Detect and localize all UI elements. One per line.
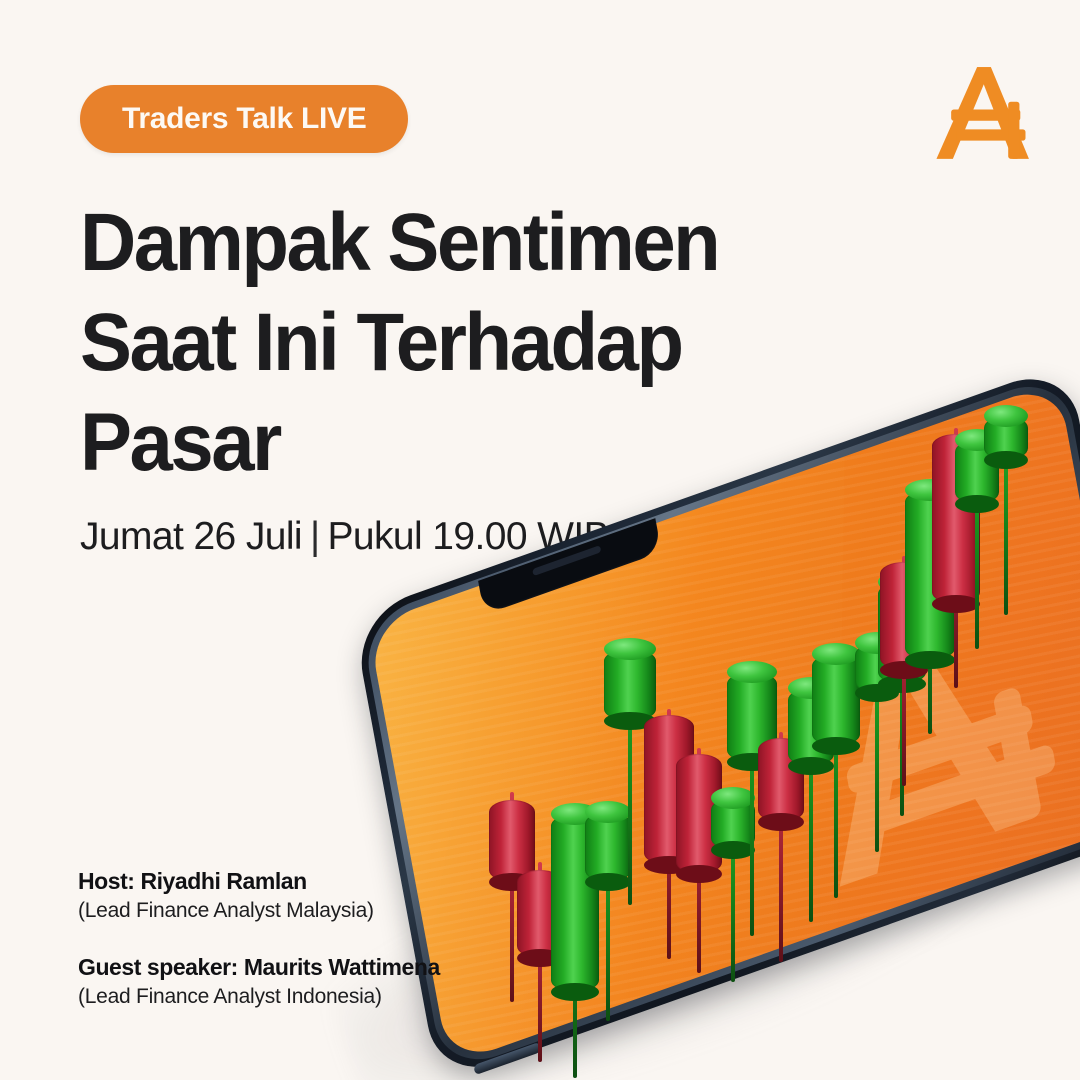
candle-base: [984, 451, 1028, 469]
credit-guest: Guest speaker: Maurits Wattimena (Lead F…: [78, 952, 440, 1011]
candle-12-up: [812, 648, 860, 898]
host-role: (Lead Finance Analyst Malaysia): [78, 896, 440, 925]
candle-cap: [727, 661, 777, 683]
candle-cap: [812, 643, 860, 665]
credit-host: Host: Riyadhi Ramlan (Lead Finance Analy…: [78, 866, 440, 925]
promo-poster: Traders Talk LIVE Dampak Sentimen Saat I…: [0, 0, 1080, 1080]
candle-base: [812, 737, 860, 755]
candle-body: [812, 654, 860, 746]
candle-cap: [489, 789, 535, 811]
candle-cap: [676, 743, 722, 765]
speaker-credits: Host: Riyadhi Ramlan (Lead Finance Analy…: [78, 866, 440, 1011]
candle-body: [984, 416, 1028, 460]
candle-cap: [644, 704, 694, 726]
candle-cap: [984, 405, 1028, 427]
guest-name: Guest speaker: Maurits Wattimena: [78, 952, 440, 982]
guest-role: (Lead Finance Analyst Indonesia): [78, 982, 440, 1011]
candle-19-up: [984, 410, 1028, 615]
candle-cap: [604, 638, 656, 660]
host-name: Host: Riyadhi Ramlan: [78, 866, 440, 896]
